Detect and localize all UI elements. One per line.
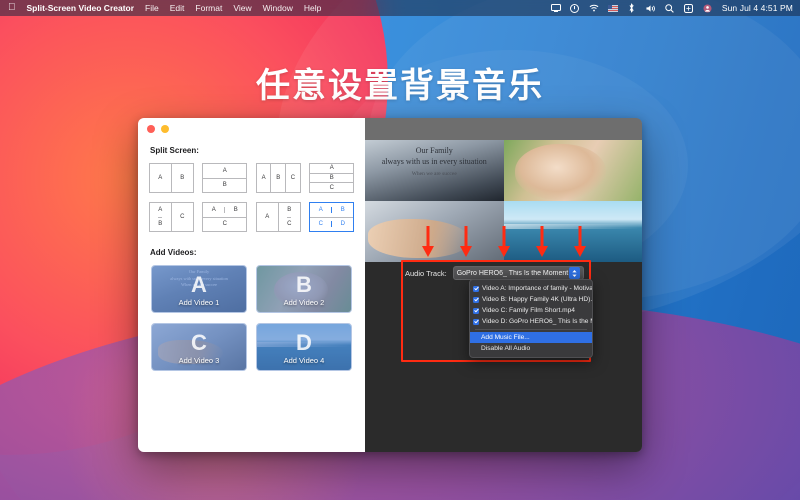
window-controls bbox=[147, 125, 169, 133]
layout-cell-label: B bbox=[234, 207, 238, 213]
layout-option-two-vertical[interactable]: A B bbox=[148, 163, 195, 193]
layout-cell-label: A bbox=[158, 207, 162, 213]
apple-logo-icon[interactable]:  bbox=[8, 3, 16, 13]
layout-option-three-vertical[interactable]: A B C bbox=[255, 163, 302, 193]
audio-track-select[interactable]: GoPro HERO6_ This Is the Moment in 4K.w… bbox=[453, 266, 584, 280]
layout-option-quad-grid[interactable]: A B C D bbox=[309, 202, 356, 232]
add-videos-grid: Our Family always with us in every situa… bbox=[138, 265, 365, 371]
add-video-slot-1[interactable]: Our Family always with us in every situa… bbox=[151, 265, 247, 313]
menu-bar-status: Sun Jul 4 4:51 PM bbox=[551, 3, 800, 13]
add-video-slot-2[interactable]: B Add Video 2 bbox=[256, 265, 352, 313]
menu-bar:  Split-Screen Video Creator File Edit F… bbox=[0, 0, 800, 16]
layout-cell-label: A bbox=[212, 207, 216, 213]
menu-format[interactable]: Format bbox=[195, 3, 222, 13]
user-icon[interactable] bbox=[703, 3, 713, 13]
app-window: Split Screen: A B A B A B bbox=[138, 118, 642, 452]
menu-bar-clock[interactable]: Sun Jul 4 4:51 PM bbox=[722, 3, 793, 13]
menu-item-label: Video A: Importance of family - Motivati… bbox=[482, 285, 592, 292]
screen-icon[interactable] bbox=[551, 3, 561, 13]
menu-separator bbox=[475, 329, 587, 330]
layout-option-top-split-bottom-full[interactable]: A B C bbox=[202, 202, 249, 232]
menu-view[interactable]: View bbox=[233, 3, 251, 13]
layout-cell-label: B bbox=[276, 175, 280, 181]
window-left-panel: Split Screen: A B A B A B bbox=[138, 118, 365, 452]
preview-cell-d bbox=[504, 201, 643, 262]
split-screen-layouts: A B A B A B C bbox=[138, 163, 365, 232]
layout-cell-label: C bbox=[180, 214, 184, 220]
search-icon[interactable] bbox=[665, 3, 675, 13]
flag-icon[interactable] bbox=[608, 3, 618, 13]
add-video-slot-3[interactable]: C Add Video 3 bbox=[151, 323, 247, 371]
layout-cell-label: C bbox=[319, 221, 323, 227]
audio-controls-area: Audio Track: GoPro HERO6_ This Is the Mo… bbox=[365, 262, 642, 452]
layout-option-left-stack-right-full[interactable]: A B C bbox=[148, 202, 195, 232]
video-slot-caption: Add Video 3 bbox=[152, 356, 246, 365]
layout-cell-label: A bbox=[158, 175, 162, 181]
menu-help[interactable]: Help bbox=[304, 3, 321, 13]
checkmark-icon bbox=[473, 286, 479, 292]
layout-cell-label: B bbox=[330, 175, 334, 181]
page-title: 任意设置背景音乐 bbox=[0, 58, 800, 107]
menu-edit[interactable]: Edit bbox=[170, 3, 185, 13]
layout-cell-label: C bbox=[330, 185, 334, 191]
layout-cell-label: B bbox=[223, 182, 227, 188]
bluetooth-icon[interactable] bbox=[627, 3, 637, 13]
layout-cell-label: A bbox=[319, 207, 323, 213]
close-button[interactable] bbox=[147, 125, 155, 133]
preview-overlay-line2: always with us in every situation bbox=[382, 157, 487, 166]
layout-cell-label: A bbox=[223, 168, 227, 174]
layout-option-two-horizontal[interactable]: A B bbox=[202, 163, 249, 193]
split-screen-label: Split Screen: bbox=[150, 146, 365, 155]
video-slot-caption: Add Video 1 bbox=[152, 298, 246, 307]
audio-track-label: Audio Track: bbox=[405, 269, 447, 278]
layout-cell-label: B bbox=[180, 175, 184, 181]
preview-cell-a: Our Family always with us in every situa… bbox=[365, 140, 504, 201]
menu-item-video-d[interactable]: Video D: GoPro HERO6_ This Is the Moment… bbox=[470, 316, 592, 327]
preview-cell-b bbox=[504, 140, 643, 201]
layout-cell-label: C bbox=[291, 175, 295, 181]
menu-item-label: Video B: Happy Family 4K (Ultra HD).mp4 bbox=[482, 296, 592, 303]
menu-item-video-b[interactable]: Video B: Happy Family 4K (Ultra HD).mp4 bbox=[470, 294, 592, 305]
menu-file[interactable]: File bbox=[145, 3, 159, 13]
preview-overlay-line1: Our Family bbox=[416, 146, 453, 155]
menu-bar-left:  Split-Screen Video Creator File Edit F… bbox=[0, 3, 321, 13]
menu-item-label: Video D: GoPro HERO6_ This Is the Moment… bbox=[482, 318, 592, 325]
layout-cell-label: D bbox=[341, 221, 345, 227]
preview-overlay-line3: When we are succee bbox=[412, 171, 457, 177]
menu-item-video-c[interactable]: Video C: Family Film Short.mp4 bbox=[470, 305, 592, 316]
control-center-icon[interactable] bbox=[570, 3, 580, 13]
video-slot-caption: Add Video 2 bbox=[257, 298, 351, 307]
video-preview-grid: Our Family always with us in every situa… bbox=[365, 140, 642, 262]
layout-cell-label: B bbox=[341, 207, 345, 213]
layout-cell-label: A bbox=[330, 165, 334, 171]
siri-icon[interactable] bbox=[684, 3, 694, 13]
minimize-button[interactable] bbox=[161, 125, 169, 133]
menu-item-video-a[interactable]: Video A: Importance of family - Motivati… bbox=[470, 283, 592, 294]
layout-cell-label: B bbox=[158, 221, 162, 227]
video-slot-caption: Add Video 4 bbox=[257, 356, 351, 365]
layout-cell-label: B bbox=[287, 207, 291, 213]
menu-item-add-music-file[interactable]: Add Music File... bbox=[470, 332, 592, 343]
menu-app-name[interactable]: Split-Screen Video Creator bbox=[27, 3, 135, 13]
checkmark-icon bbox=[473, 297, 479, 303]
menu-item-label: Add Music File... bbox=[481, 334, 530, 341]
add-videos-label: Add Videos: bbox=[150, 248, 365, 257]
preview-cell-c bbox=[365, 201, 504, 262]
volume-icon[interactable] bbox=[646, 3, 656, 13]
audio-track-row: Audio Track: GoPro HERO6_ This Is the Mo… bbox=[405, 266, 584, 280]
layout-option-left-full-right-stack[interactable]: A B C bbox=[255, 202, 302, 232]
wifi-icon[interactable] bbox=[589, 3, 599, 13]
audio-track-dropdown-menu: Video A: Importance of family - Motivati… bbox=[469, 279, 593, 358]
chevron-updown-icon bbox=[569, 267, 580, 279]
menu-item-label: Video C: Family Film Short.mp4 bbox=[482, 307, 575, 314]
checkmark-icon bbox=[473, 319, 479, 325]
layout-cell-label: A bbox=[265, 214, 269, 220]
window-right-panel: Our Family always with us in every situa… bbox=[365, 118, 642, 452]
menu-window[interactable]: Window bbox=[263, 3, 293, 13]
menu-item-disable-all-audio[interactable]: Disable All Audio bbox=[470, 343, 592, 354]
layout-cell-label: A bbox=[262, 175, 266, 181]
layout-cell-label: C bbox=[223, 221, 227, 227]
add-video-slot-4[interactable]: D Add Video 4 bbox=[256, 323, 352, 371]
menu-item-label: Disable All Audio bbox=[481, 345, 530, 352]
layout-option-three-horizontal[interactable]: A B C bbox=[309, 163, 356, 193]
audio-track-selected-value: GoPro HERO6_ This Is the Moment in 4K.w… bbox=[457, 270, 569, 277]
checkmark-icon bbox=[473, 308, 479, 314]
layout-cell-label: C bbox=[287, 221, 291, 227]
